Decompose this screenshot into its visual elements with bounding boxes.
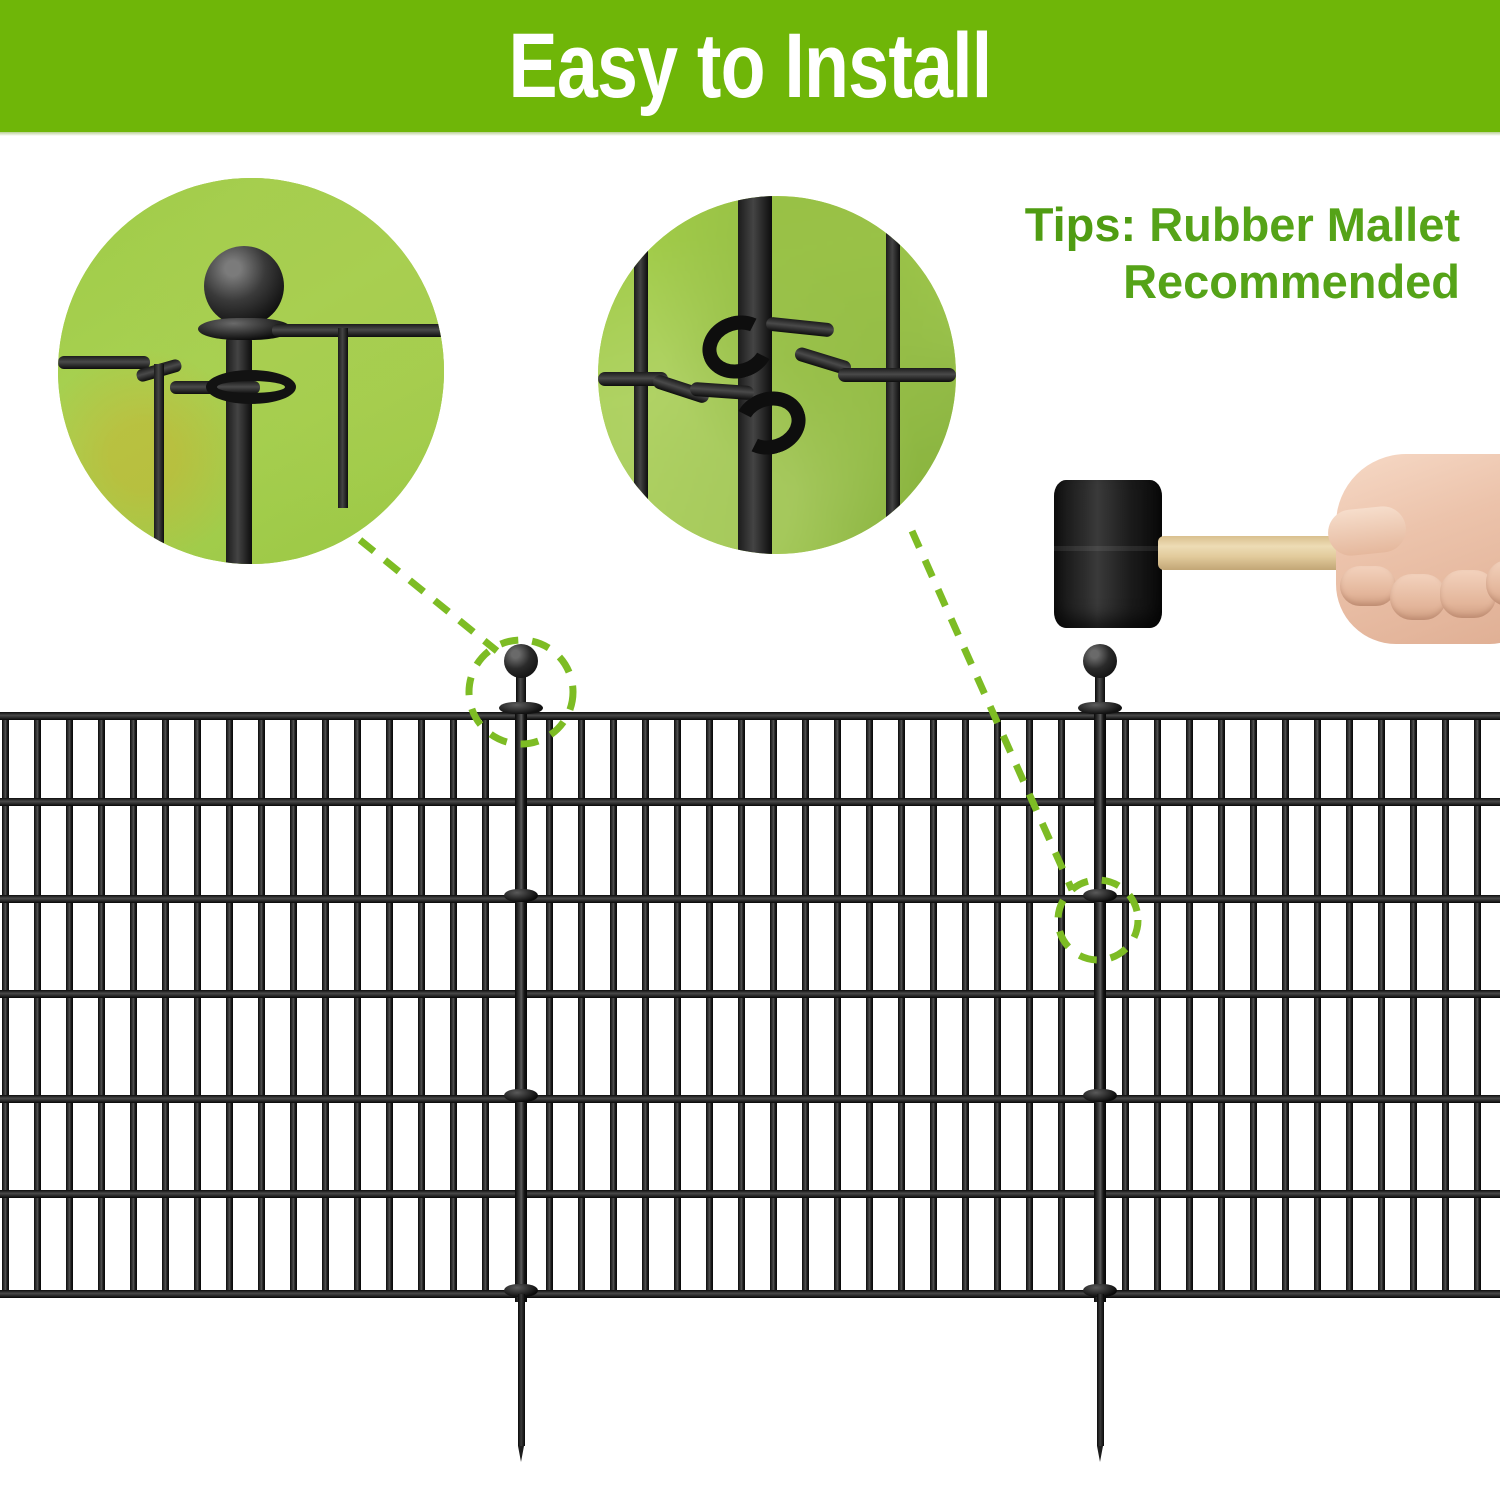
fence-horizontal-rail: [0, 1190, 1500, 1198]
fence-horizontal-rail: [0, 798, 1500, 806]
closeup-rail-right: [838, 368, 956, 382]
mallet-head-icon: [1054, 480, 1162, 628]
fence-horizontal-rail: [0, 1095, 1500, 1103]
tips-line-1: Tips: Rubber Mallet: [940, 196, 1460, 253]
closeup-hook-loop: [206, 370, 296, 404]
closeup-wire-right: [338, 328, 348, 508]
closeup-ball-cap: [204, 246, 284, 326]
s-hook-connector: [1083, 1089, 1117, 1102]
tips-line-2: Recommended: [940, 253, 1460, 310]
ground-stake: [518, 1294, 525, 1446]
finial-base: [499, 702, 543, 714]
finial-base: [1078, 702, 1122, 714]
s-hook-connector: [1083, 889, 1117, 902]
ball-finial-icon: [1083, 644, 1117, 678]
fence-post: [1094, 708, 1106, 1302]
closeup-wire-left: [154, 364, 164, 564]
s-hook-connector: [504, 1089, 538, 1102]
tips-lead-label: Tips:: [1025, 198, 1136, 251]
hand-finger-2: [1390, 574, 1446, 620]
product-infographic: Easy to Install: [0, 0, 1500, 1500]
fence-horizontal-rail: [0, 990, 1500, 998]
ground-stake: [1097, 1294, 1104, 1446]
fence-post: [515, 708, 527, 1302]
hand-finger-1: [1340, 566, 1396, 606]
tips-line-1-rest: Rubber Mallet: [1136, 198, 1460, 251]
page-title: Easy to Install: [150, 0, 1350, 132]
fence-horizontal-rail: [0, 1290, 1500, 1298]
fence-scene: [0, 640, 1500, 1500]
fence-horizontal-rail: [0, 712, 1500, 720]
fence-horizontal-rail: [0, 895, 1500, 903]
callout-circle-s-hook: [598, 196, 956, 554]
s-hook-connector: [504, 889, 538, 902]
ball-finial-icon: [504, 644, 538, 678]
callout-circle-ball-finial: [58, 178, 444, 564]
closeup-rail-upper-right: [272, 324, 444, 337]
banner-shadow: [0, 132, 1500, 136]
tips-text: Tips: Rubber Mallet Recommended: [940, 196, 1460, 311]
closeup-rail-upper-left: [58, 356, 150, 369]
